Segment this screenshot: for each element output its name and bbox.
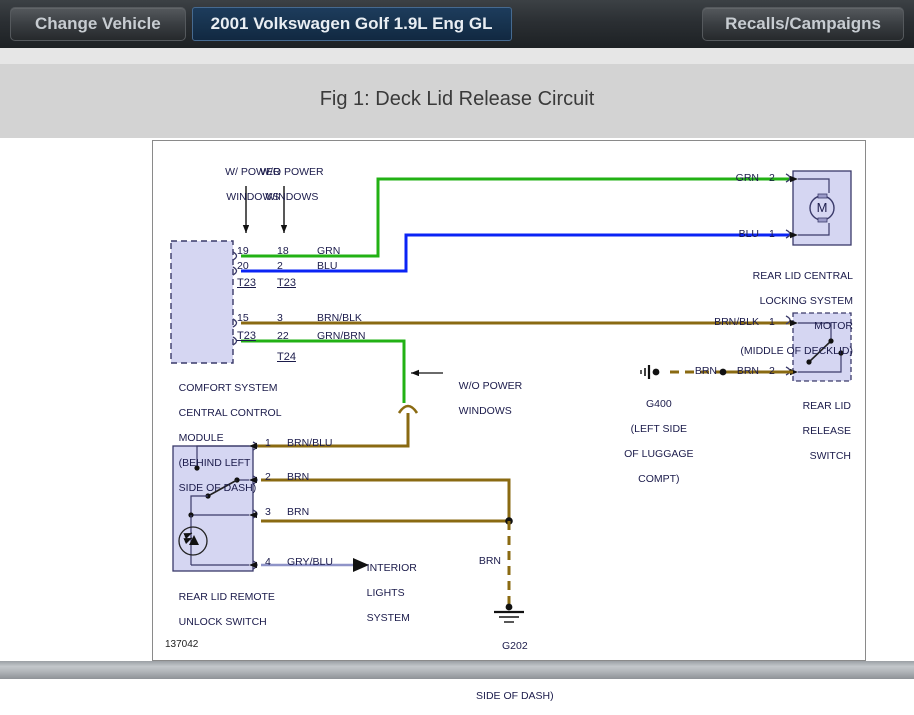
pin-label-unlock-3: 3 (265, 506, 271, 519)
wire-label-brn-g400: BRN (649, 365, 717, 378)
wire-label-grn-motor: GRN (709, 172, 759, 185)
ground-g400-label: G400 (LEFT SIDE OF LUGGAGE COMPT) (601, 385, 705, 498)
pin-label-unlock-2: 2 (265, 471, 271, 484)
wire-label-brn-g202: BRN (455, 555, 501, 568)
wire-label-row-1: BLU (317, 260, 337, 273)
connector-id-row-2-a: T23 (237, 277, 256, 290)
pin-a-row-0: 19 (237, 245, 249, 258)
release-switch-label: REAR LID RELEASE SWITCH (753, 387, 851, 475)
wire-label-row-4: GRN/BRN (317, 330, 365, 343)
connector-id-row-5-b: T24 (277, 351, 296, 364)
recalls-campaigns-button[interactable]: Recalls/Campaigns (702, 7, 904, 41)
wiring-diagram: M (153, 141, 865, 660)
change-vehicle-button[interactable]: Change Vehicle (10, 7, 186, 41)
annotation-without-power-windows-mid: W/O POWER WINDOWS (447, 367, 557, 430)
wire-label-unlock-1: BRN/BLU (287, 437, 333, 450)
wire-label-unlock-3: BRN (287, 506, 309, 519)
vehicle-selection-field[interactable]: 2001 Volkswagen Golf 1.9L Eng GL (192, 7, 512, 41)
annotation-without-power-windows: W/O POWER WINDOWS (247, 153, 325, 216)
figure-title: Fig 1: Deck Lid Release Circuit (0, 88, 914, 111)
wire-label-unlock-2: BRN (287, 471, 309, 484)
remote-unlock-switch-label: REAR LID REMOTE UNLOCK SWITCH (167, 578, 275, 641)
pin-label-motor-2: 2 (769, 172, 775, 185)
pin-a-row-3: 15 (237, 312, 249, 325)
wire-label-unlock-4: GRY/BLU (287, 556, 333, 569)
locking-motor-label: REAR LID CENTRAL LOCKING SYSTEM MOTOR (M… (709, 257, 853, 370)
connector-id-row-2-b: T23 (277, 277, 296, 290)
wire-label-row-3: BRN/BLK (317, 312, 362, 325)
pin-b-row-4: 22 (277, 330, 289, 343)
connector-id-row-4-a: T23 (237, 330, 256, 343)
wiring-diagram-frame[interactable]: M (152, 140, 866, 661)
pin-label-unlock-4: 4 (265, 556, 271, 569)
pin-label-motor-1: 1 (769, 228, 775, 241)
pin-b-row-1: 2 (277, 260, 283, 273)
pin-label-unlock-1: 1 (265, 437, 271, 450)
wire-label-row-0: GRN (317, 245, 340, 258)
figure-caption-band: Fig 1: Deck Lid Release Circuit (0, 48, 914, 139)
svg-text:M: M (817, 200, 828, 215)
footer-bar (0, 661, 914, 679)
caption-top-strip (0, 48, 914, 64)
pin-b-row-3: 3 (277, 312, 283, 325)
pin-b-row-0: 18 (277, 245, 289, 258)
pin-a-row-1: 20 (237, 260, 249, 273)
interior-lights-label: INTERIOR LIGHTS SYSTEM (355, 549, 425, 637)
figure-id-number: 137042 (165, 639, 198, 650)
top-toolbar: Change Vehicle 2001 Volkswagen Golf 1.9L… (0, 0, 914, 48)
wire-label-blu-motor: BLU (709, 228, 759, 241)
